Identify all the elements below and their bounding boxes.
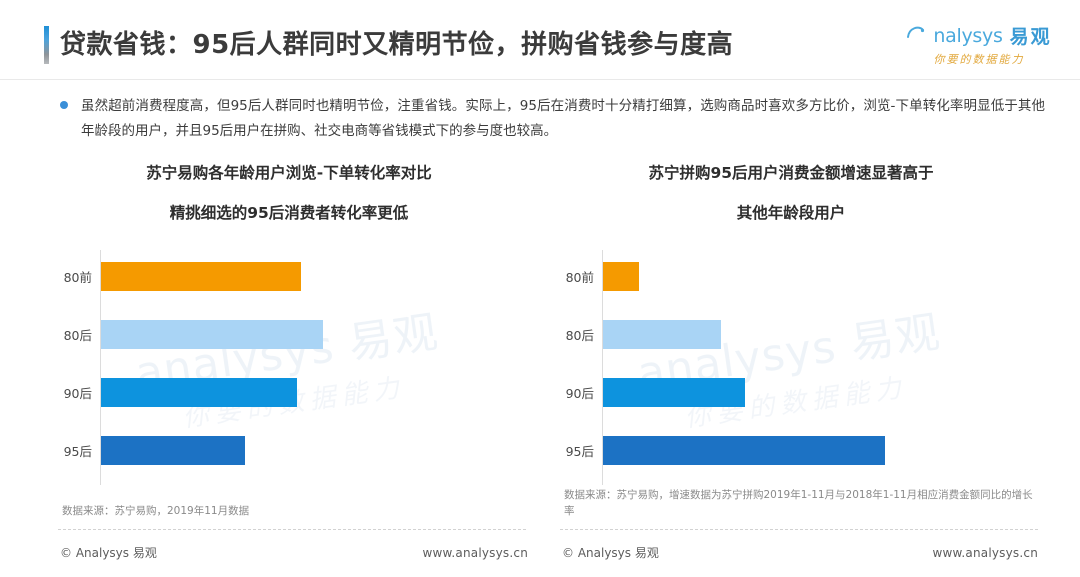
brand-wordmark: nalysys (933, 25, 1002, 47)
bar-row: 80前 (38, 262, 540, 291)
bar-category-label: 80后 (540, 325, 594, 344)
chart-right-plot: 80前80后90后95后 (540, 250, 1042, 485)
chart-right-footnote: 数据来源：苏宁易购，增速数据为苏宁拼购2019年1-11月与2018年1-11月… (564, 487, 1042, 519)
bar-row: 80后 (38, 320, 540, 349)
bar-track (603, 320, 1042, 349)
slide-footer-right: © Analysys 易观 www.analysys.cn (562, 544, 1038, 561)
bar-category-label: 80前 (540, 267, 594, 286)
chart-left-title-line1: 苏宁易购各年龄用户浏览-下单转化率对比 (38, 162, 540, 184)
bar-category-label: 95后 (38, 441, 92, 460)
chart-left-area: analysys 易观 你要的数据能力 80前80后90后95后 (38, 250, 540, 485)
chart-right-area: analysys 易观 你要的数据能力 80前80后90后95后 (540, 250, 1042, 485)
footer-copyright-right: © Analysys 易观 (562, 544, 659, 561)
analysys-swoosh-icon (906, 23, 926, 48)
bar-80前 (101, 262, 301, 291)
bar-row: 90后 (540, 378, 1042, 407)
bar-category-label: 80前 (38, 267, 92, 286)
analysys-brand-logo: nalysys 易观 你要的数据能力 (904, 22, 1054, 67)
bar-row: 95后 (540, 436, 1042, 465)
bar-track (101, 262, 540, 291)
bar-row: 90后 (38, 378, 540, 407)
bullet-dot-icon (60, 101, 68, 109)
bar-95后 (603, 436, 885, 465)
bar-category-label: 90后 (540, 383, 594, 402)
bar-row: 80后 (540, 320, 1042, 349)
title-accent-bar (44, 26, 49, 64)
brand-chinese-name: 易观 (1010, 22, 1052, 49)
footer-dashed-divider-right (560, 529, 1038, 530)
page-title: 贷款省钱：95后人群同时又精明节俭，拼购省钱参与度高 (60, 24, 733, 61)
chart-left-title-line2: 精挑细选的95后消费者转化率更低 (38, 202, 540, 224)
footer-copyright-left: © Analysys 易观 (60, 544, 157, 561)
slide-footer-left: © Analysys 易观 www.analysys.cn (60, 544, 528, 561)
footer-url-right[interactable]: www.analysys.cn (932, 546, 1038, 560)
chart-right-title-line1: 苏宁拼购95后用户消费金额增速显著高于 (540, 162, 1042, 184)
chart-left-footnote: 数据来源：苏宁易购，2019年11月数据 (62, 503, 532, 519)
bar-category-label: 95后 (540, 441, 594, 460)
bar-track (603, 436, 1042, 465)
bar-90后 (603, 378, 745, 407)
bar-category-label: 90后 (38, 383, 92, 402)
chart-right-title-line2: 其他年龄段用户 (540, 202, 1042, 224)
bar-80后 (101, 320, 323, 349)
chart-right-title: 苏宁拼购95后用户消费金额增速显著高于 其他年龄段用户 (540, 162, 1042, 224)
footer-url-left[interactable]: www.analysys.cn (422, 546, 528, 560)
bar-95后 (101, 436, 245, 465)
chart-left-plot: 80前80后90后95后 (38, 250, 540, 485)
bar-track (603, 378, 1042, 407)
brand-tagline: 你要的数据能力 (904, 51, 1054, 67)
bar-track (101, 436, 540, 465)
bar-row: 80前 (540, 262, 1042, 291)
bar-80后 (603, 320, 721, 349)
chart-left-title: 苏宁易购各年龄用户浏览-下单转化率对比 精挑细选的95后消费者转化率更低 (38, 162, 540, 224)
bar-track (101, 378, 540, 407)
slide-page: 贷款省钱：95后人群同时又精明节俭，拼购省钱参与度高 nalysys 易观 你要… (0, 0, 1080, 577)
slide-header: 贷款省钱：95后人群同时又精明节俭，拼购省钱参与度高 nalysys 易观 你要… (0, 0, 1080, 80)
bar-category-label: 80后 (38, 325, 92, 344)
footer-dashed-divider-left (58, 529, 526, 530)
bar-track (101, 320, 540, 349)
bar-track (603, 262, 1042, 291)
summary-paragraph: 虽然超前消费程度高，但95后人群同时也精明节俭，注重省钱。实际上，95后在消费时… (81, 94, 1045, 144)
bar-80前 (603, 262, 639, 291)
chart-panel-right: 苏宁拼购95后用户消费金额增速显著高于 其他年龄段用户 analysys 易观 … (540, 150, 1042, 577)
header-divider (0, 79, 1080, 80)
bar-row: 95后 (38, 436, 540, 465)
bar-90后 (101, 378, 297, 407)
chart-panel-left: 苏宁易购各年龄用户浏览-下单转化率对比 精挑细选的95后消费者转化率更低 ana… (38, 150, 540, 577)
summary-bullet-block: 虽然超前消费程度高，但95后人群同时也精明节俭，注重省钱。实际上，95后在消费时… (60, 94, 1045, 144)
